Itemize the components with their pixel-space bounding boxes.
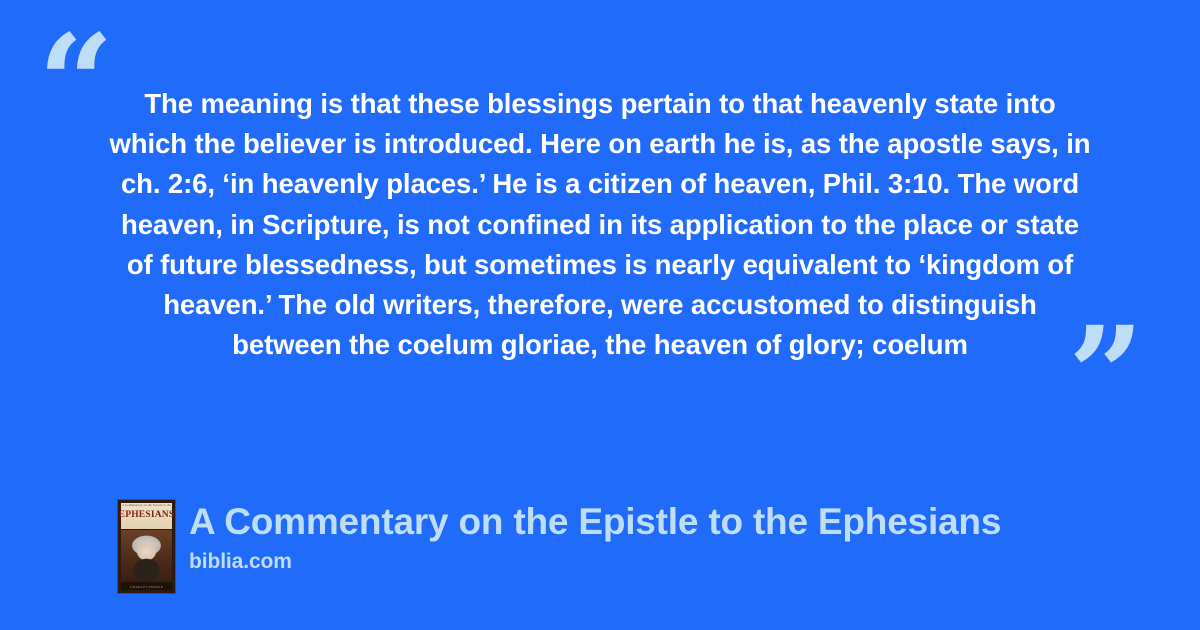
quote-block: The meaning is that these blessings pert… [108, 84, 1092, 365]
opening-quote-icon: “ [38, 18, 114, 150]
book-cover-portrait [121, 530, 172, 582]
book-cover-subtitle: A Commentary on the Epistle to the [118, 504, 175, 507]
quote-text: The meaning is that these blessings pert… [108, 84, 1092, 365]
book-cover-author: CHARLES HODGE [118, 586, 175, 589]
book-cover-title: EPHESIANS [118, 511, 175, 521]
book-cover-thumbnail: A Commentary on the Epistle to the EPHES… [118, 500, 175, 593]
site-name: biblia.com [189, 550, 1001, 574]
footer-text-group: A Commentary on the Epistle to the Ephes… [189, 500, 1001, 574]
closing-quote-icon: ” [1068, 310, 1144, 442]
quote-card: “ The meaning is that these blessings pe… [0, 0, 1200, 630]
footer-attribution: A Commentary on the Epistle to the EPHES… [118, 500, 1001, 593]
book-title: A Commentary on the Epistle to the Ephes… [189, 500, 1001, 544]
